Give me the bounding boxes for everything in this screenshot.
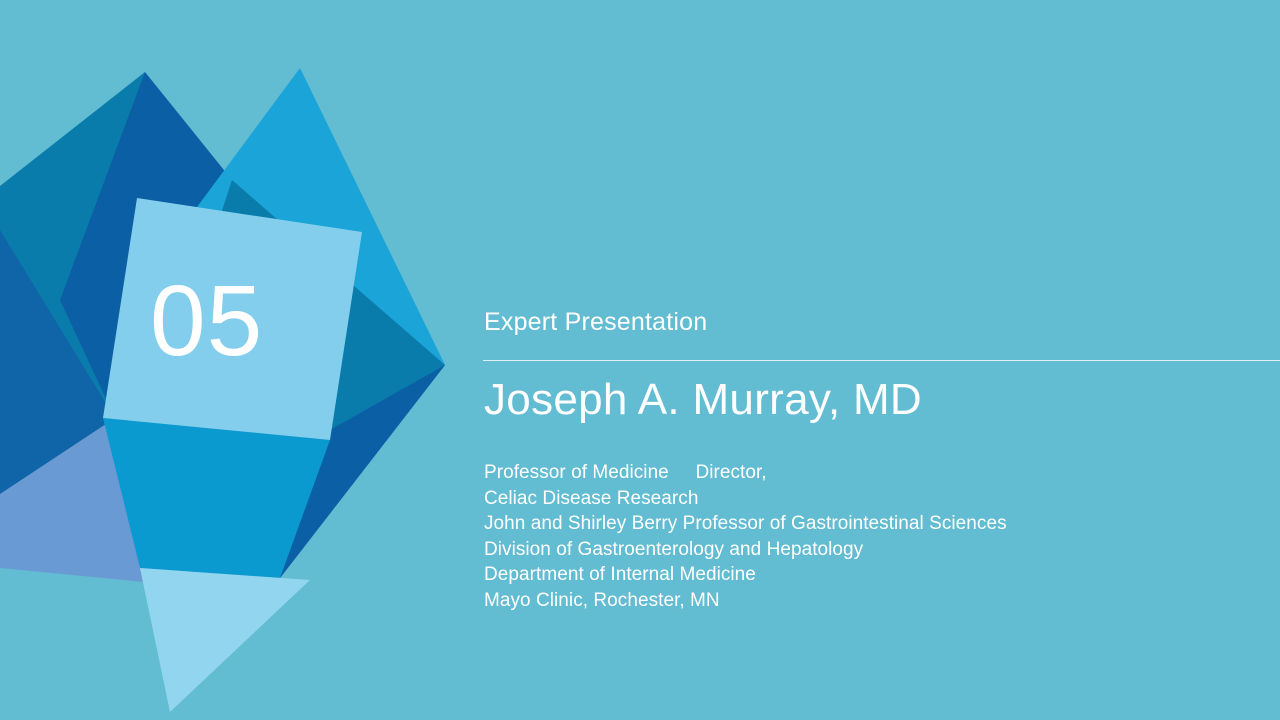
shape-pale-bottom-triangle (140, 568, 310, 712)
page-title: Joseph A. Murray, MD (484, 375, 922, 425)
eyebrow-label: Expert Presentation (484, 308, 707, 337)
shape-navy-right-sliver (160, 365, 445, 600)
affiliation-line: Division of Gastroenterology and Hepatol… (484, 537, 1274, 563)
title-divider-rule (483, 360, 1280, 361)
shape-bright-blue-band (103, 418, 330, 578)
presentation-slide: 05 Expert Presentation Joseph A. Murray,… (0, 0, 1280, 720)
affiliation-line: Mayo Clinic, Rochester, MN (484, 588, 1274, 614)
shape-periwinkle-triangle (0, 418, 175, 585)
affiliation-line: Department of Internal Medicine (484, 562, 1274, 588)
affiliation-line: Celiac Disease Research (484, 486, 1274, 512)
affiliation-line: Professor of Medicine Director, (484, 460, 1274, 486)
slide-text-column: Expert Presentation Joseph A. Murray, MD… (483, 0, 1280, 720)
affiliation-list: Professor of Medicine Director, Celiac D… (484, 460, 1274, 614)
slide-number: 05 (150, 256, 330, 386)
affiliation-line: John and Shirley Berry Professor of Gast… (484, 511, 1274, 537)
shape-navy-left (0, 230, 115, 530)
